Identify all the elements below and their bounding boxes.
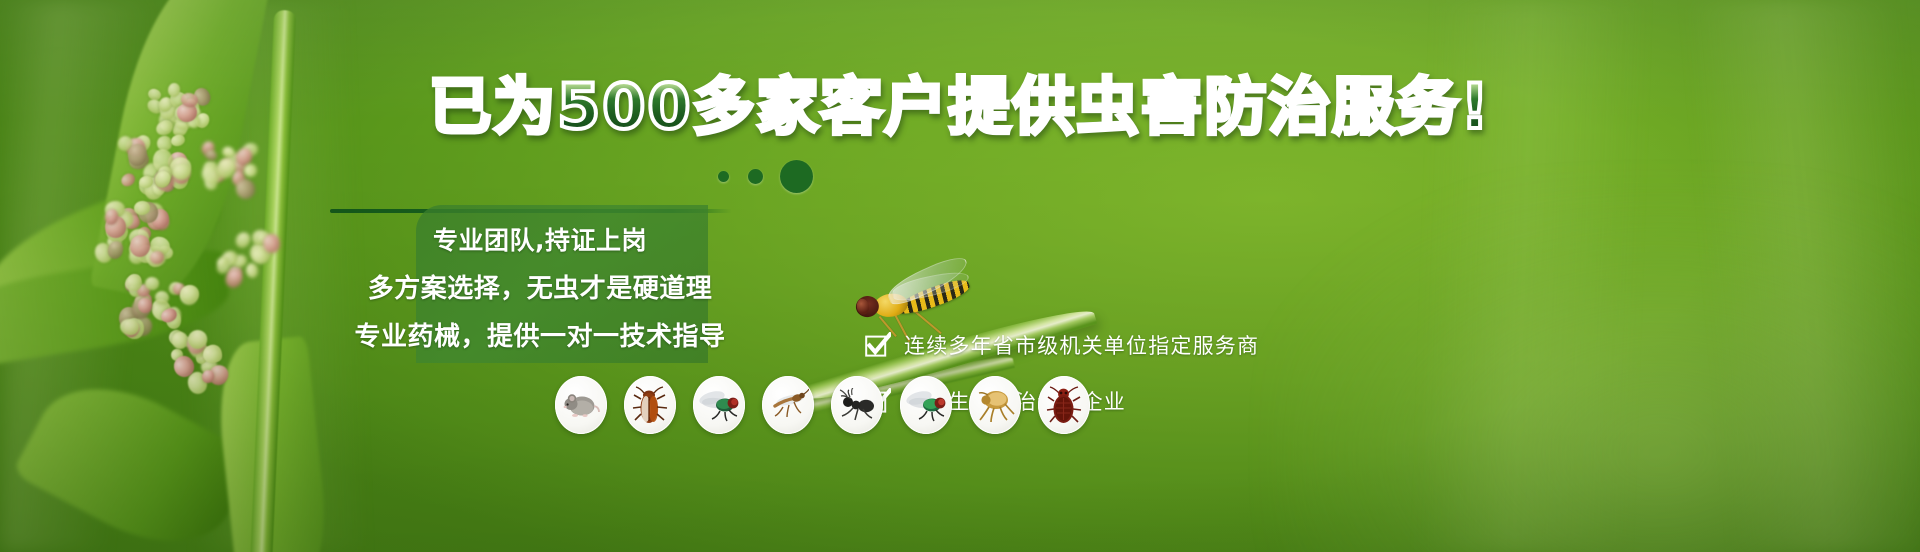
cockroach-icon[interactable] (624, 376, 676, 434)
page-title: 已为500多家客户提供虫害防治服务! (429, 74, 1491, 139)
checkbox-checked-icon (865, 332, 891, 358)
feature-line-3: 专业药械，提供一对一技术指导 (330, 316, 750, 353)
rodent-mouse-icon[interactable] (555, 376, 607, 434)
blowfly-icon[interactable] (900, 376, 952, 434)
mosquito-icon[interactable] (762, 376, 814, 434)
feature-line-1: 专业团队,持证上岗 (330, 221, 750, 257)
decorative-dot-small (718, 171, 729, 182)
list-item: 连续多年省市级机关单位指定服务商 (865, 330, 1385, 360)
headline-container: 已为500多家客户提供虫害防治服务! (0, 74, 1920, 139)
decorative-dots (718, 158, 838, 198)
bullet-label: 连续多年省市级机关单位指定服务商 (904, 330, 1259, 360)
decorative-dot-large (780, 160, 813, 193)
pest-icon-strip (555, 376, 1090, 434)
feature-line-2: 多方案选择，无虫才是硬道理 (330, 268, 750, 305)
housefly-icon[interactable] (693, 376, 745, 434)
decorative-dot-medium (748, 169, 763, 184)
flea-icon[interactable] (969, 376, 1021, 434)
ant-icon[interactable] (831, 376, 883, 434)
feature-text-list: 专业团队,持证上岗 多方案选择，无虫才是硬道理 专业药械，提供一对一技术指导 (330, 212, 750, 362)
promo-banner: 已为500多家客户提供虫害防治服务! 专业团队,持证上岗 多方案选择，无虫才是硬… (0, 0, 1920, 552)
bedbug-icon[interactable] (1038, 376, 1090, 434)
